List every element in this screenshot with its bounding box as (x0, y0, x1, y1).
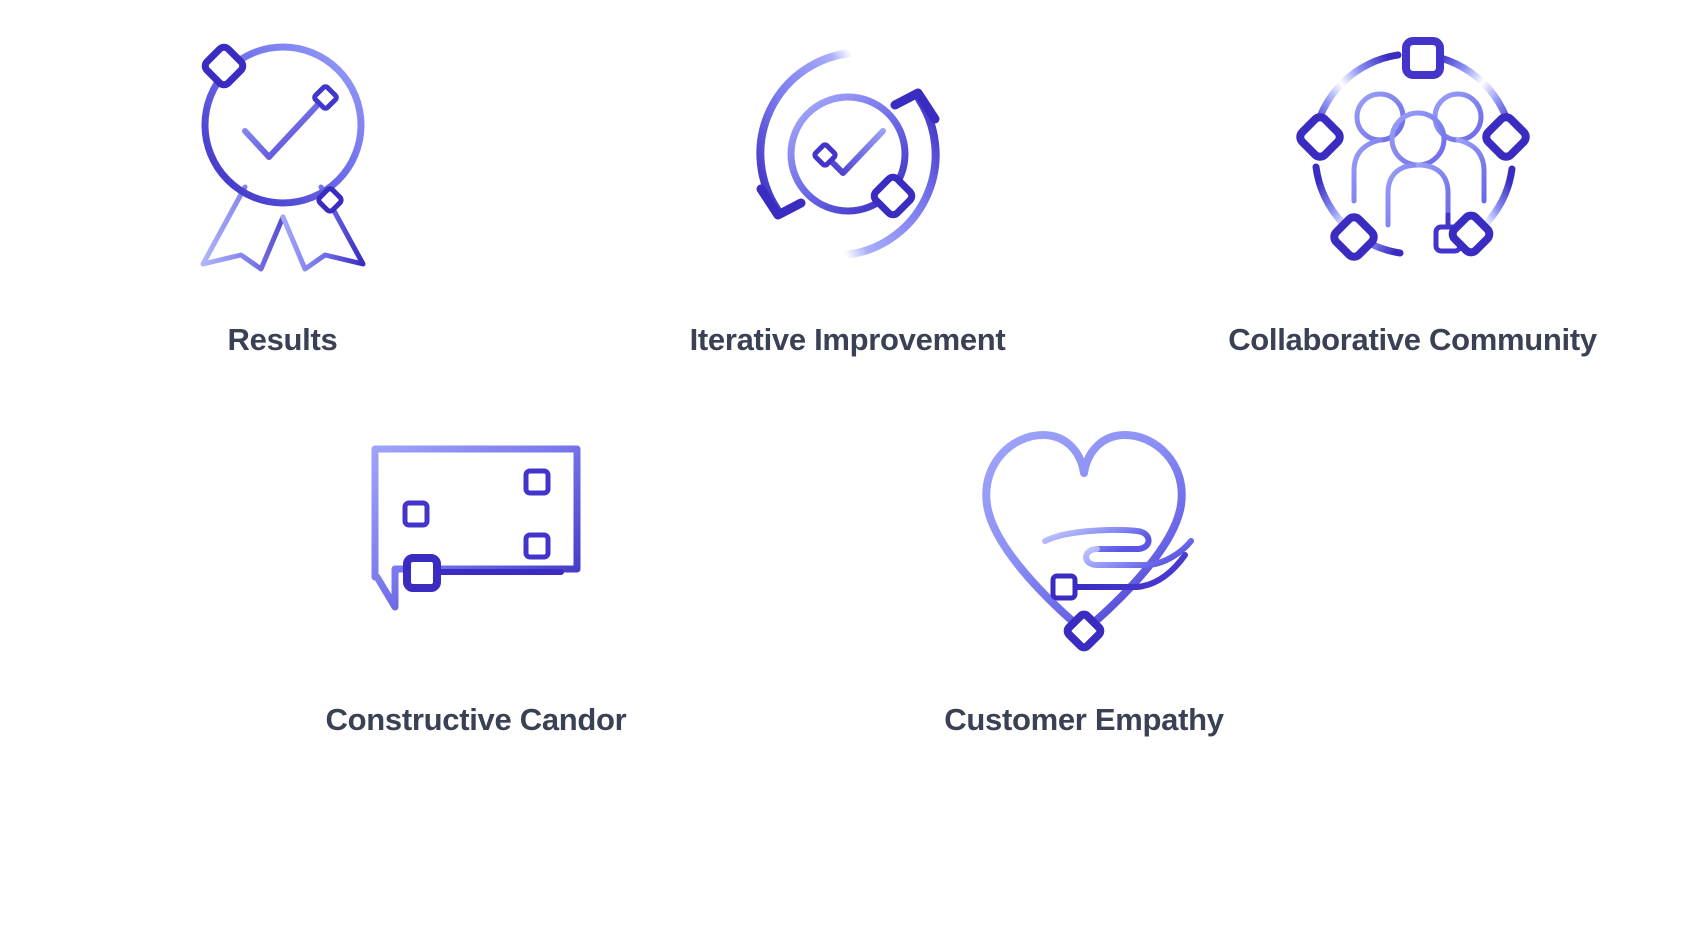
value-card-constructive-candor[interactable]: Constructive Candor (172, 410, 780, 738)
values-row-bottom: Constructive Candor (0, 358, 1696, 738)
award-ribbon-checkmark-icon (183, 24, 383, 284)
speech-bubble-sliders-icon (361, 410, 591, 658)
circular-arrows-clock-checkmark-icon (733, 24, 963, 284)
value-label: Customer Empathy (944, 702, 1223, 738)
value-card-customer-empathy[interactable]: Customer Empathy (780, 410, 1388, 738)
people-network-circle-icon (1298, 24, 1528, 284)
values-board: Results (0, 0, 1696, 950)
value-card-iterative-improvement[interactable]: Iterative Improvement (565, 24, 1130, 358)
value-card-collaborative-community[interactable]: Collaborative Community (1130, 24, 1695, 358)
value-card-results[interactable]: Results (0, 24, 565, 358)
values-row-top: Results (0, 0, 1696, 358)
value-label: Constructive Candor (326, 702, 627, 738)
heart-helping-hand-icon (969, 410, 1199, 658)
value-label: Results (228, 322, 338, 358)
value-label: Collaborative Community (1228, 322, 1597, 358)
value-label: Iterative Improvement (690, 322, 1006, 358)
